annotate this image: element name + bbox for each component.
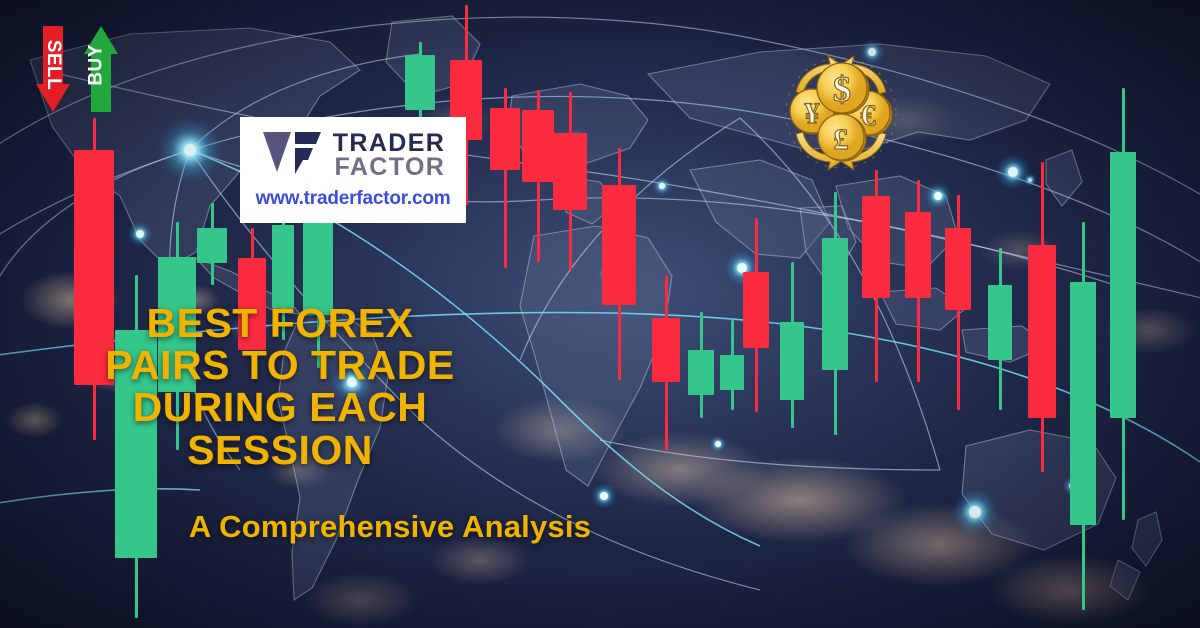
- candlestick-23: [988, 248, 1012, 410]
- candle-body: [1070, 282, 1096, 525]
- sell-label: SELL: [42, 40, 64, 90]
- candle-body: [602, 185, 636, 305]
- dollar-symbol: $: [833, 69, 851, 109]
- buy-label: BUY: [86, 44, 108, 85]
- candle-body: [652, 318, 680, 382]
- logo-line-trader: TRADER: [333, 131, 446, 155]
- candlestick-25: [1070, 222, 1096, 610]
- euro-symbol: €: [861, 99, 876, 132]
- candle-body: [945, 228, 971, 310]
- candle-body: [197, 228, 227, 263]
- yen-symbol: ¥: [805, 97, 820, 130]
- headline-line-2: PAIRS TO TRADE: [0, 344, 560, 386]
- candlestick-11: [522, 90, 554, 262]
- candlestick-22: [945, 195, 971, 410]
- candle-body: [688, 350, 714, 395]
- candle-body: [988, 285, 1012, 360]
- candlestick-4: [197, 203, 227, 285]
- candlestick-12: [553, 92, 587, 270]
- headline-line-4: SESSION: [0, 429, 560, 471]
- candle-body: [553, 133, 587, 210]
- trader-factor-logo-card[interactable]: TRADER FACTOR www.traderfactor.com: [240, 117, 466, 223]
- candle-body: [405, 55, 435, 110]
- candle-body: [1110, 152, 1136, 418]
- candlestick-17: [743, 218, 769, 412]
- candlestick-15: [688, 312, 714, 418]
- candlestick-19: [822, 192, 848, 435]
- page-title: BEST FOREX PAIRS TO TRADE DURING EACH SE…: [0, 302, 560, 471]
- logo-line-factor: FACTOR: [333, 155, 446, 179]
- candle-body: [822, 238, 848, 370]
- candle-body: [522, 110, 554, 182]
- candle-body: [743, 272, 769, 348]
- headline-line-1: BEST FOREX: [0, 302, 560, 344]
- candlestick-13: [602, 148, 636, 380]
- candle-body: [720, 355, 744, 390]
- logo-website-url[interactable]: www.traderfactor.com: [256, 188, 451, 210]
- currency-exchange-icon: $ ¥ € £: [778, 52, 904, 174]
- candlestick-18: [780, 262, 804, 428]
- candle-body: [1028, 245, 1056, 418]
- headline-line-3: DURING EACH: [0, 386, 560, 428]
- candlestick-21: [905, 180, 931, 382]
- candlestick-24: [1028, 162, 1056, 472]
- candle-body: [490, 108, 520, 170]
- page-subtitle: A Comprehensive Analysis: [0, 509, 780, 545]
- sell-badge[interactable]: SELL: [36, 26, 70, 112]
- candle-body: [905, 212, 931, 298]
- trader-factor-logo-mark: [261, 126, 323, 183]
- candlestick-26: [1110, 88, 1136, 520]
- buy-badge[interactable]: BUY: [84, 26, 118, 112]
- candlestick-14: [652, 275, 680, 450]
- candle-body: [862, 196, 890, 298]
- candle-body: [780, 322, 804, 400]
- candlestick-16: [720, 320, 744, 410]
- candle-body: [272, 225, 294, 308]
- candlestick-10: [490, 88, 520, 268]
- forex-banner: SELL BUY: [0, 0, 1200, 628]
- candlestick-20: [862, 170, 890, 382]
- pound-symbol: £: [834, 123, 849, 156]
